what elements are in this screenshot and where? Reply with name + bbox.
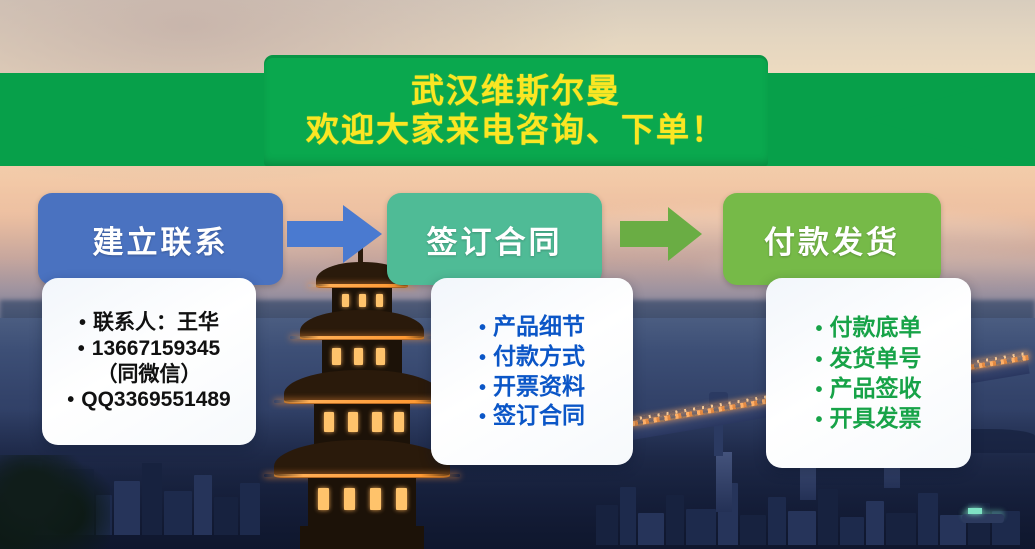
list-item: • 13667159345: [42, 336, 256, 362]
list-item-label: （同微信）: [97, 362, 202, 388]
banner-title: 武汉维斯尔曼: [411, 72, 621, 110]
river-boat: [962, 514, 1004, 523]
step-header-payment: 付款发货: [723, 193, 941, 285]
step-body-contract: • 产品细节 • 付款方式 • 开票资料 • 签订合同: [431, 278, 633, 465]
list-item-label: 付款方式: [493, 342, 585, 372]
bullet-icon: •: [67, 390, 74, 410]
list-item: • 开票资料: [431, 372, 633, 402]
list-item: • 联系人：王华: [42, 310, 256, 336]
list-item-label: 联系人：王华: [93, 310, 219, 336]
contact-detail-list: • 联系人：王华 • 13667159345 （同微信） • QQ3369551…: [42, 310, 256, 412]
list-item-label: 签订合同: [493, 401, 585, 431]
step-title-contract: 签订合同: [427, 217, 563, 262]
arrow-contact-to-contract: [287, 203, 382, 265]
bullet-icon: •: [815, 380, 822, 400]
list-item: • 付款底单: [766, 312, 971, 342]
list-item: （同微信）: [42, 362, 256, 388]
payment-detail-list: • 付款底单 • 发货单号 • 产品签收 • 开具发票: [766, 312, 971, 433]
step-title-payment: 付款发货: [764, 217, 900, 262]
step-body-payment: • 付款底单 • 发货单号 • 产品签收 • 开具发票: [766, 278, 971, 468]
list-item-label: 发货单号: [830, 343, 922, 373]
step-body-contact: • 联系人：王华 • 13667159345 （同微信） • QQ3369551…: [42, 278, 256, 445]
list-item-label: 开具发票: [830, 403, 922, 433]
list-item: • 付款方式: [431, 342, 633, 372]
list-item: • QQ3369551489: [42, 387, 256, 413]
list-item-label: 开票资料: [493, 372, 585, 402]
bullet-icon: •: [78, 339, 85, 359]
banner-subtitle: 欢迎大家来电咨询、下单！: [306, 111, 726, 149]
list-item: • 产品签收: [766, 373, 971, 403]
list-item-label: 产品细节: [493, 312, 585, 342]
bullet-icon: •: [479, 407, 486, 427]
bullet-icon: •: [815, 350, 822, 370]
step-header-contact: 建立联系: [38, 193, 283, 285]
list-item: • 签订合同: [431, 401, 633, 431]
bullet-icon: •: [79, 313, 86, 333]
bullet-icon: •: [479, 378, 486, 398]
contract-detail-list: • 产品细节 • 付款方式 • 开票资料 • 签订合同: [431, 312, 633, 432]
list-item-label: QQ3369551489: [81, 387, 230, 413]
list-item: • 发货单号: [766, 343, 971, 373]
foreground-tree: [0, 455, 110, 549]
arrow-contract-to-payment: [620, 205, 702, 263]
bullet-icon: •: [815, 410, 822, 430]
poster-canvas: 武汉维斯尔曼 欢迎大家来电咨询、下单！ 建立联系 • 联系人：王华 • 1366…: [0, 0, 1035, 549]
banner-center-panel: 武汉维斯尔曼 欢迎大家来电咨询、下单！: [264, 55, 768, 166]
list-item: • 开具发票: [766, 403, 971, 433]
list-item-label: 付款底单: [830, 312, 922, 342]
bullet-icon: •: [815, 319, 822, 339]
bullet-icon: •: [479, 318, 486, 338]
list-item-label: 13667159345: [92, 336, 220, 362]
list-item-label: 产品签收: [830, 373, 922, 403]
bullet-icon: •: [479, 348, 486, 368]
list-item: • 产品细节: [431, 312, 633, 342]
step-header-contract: 签订合同: [387, 193, 602, 285]
step-title-contact: 建立联系: [93, 217, 229, 262]
